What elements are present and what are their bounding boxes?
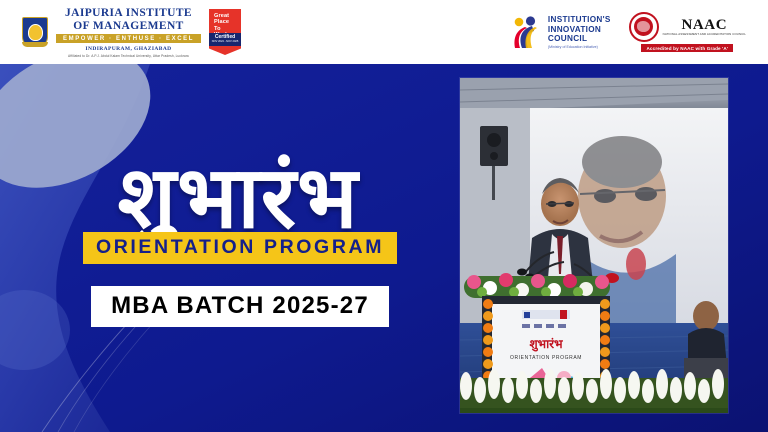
accreditation-logos: INSTITUTION'S INNOVATION COUNCIL (Minist… (513, 12, 746, 52)
poster-title-block: शुभारंभ ORIENTATION PROGRAM MBA BATCH 20… (0, 152, 450, 327)
institute-name-line2: OF MANAGEMENT (73, 20, 184, 32)
iic-logo-icon (513, 15, 543, 49)
orientation-program-banner: ORIENTATION PROGRAM (83, 232, 397, 264)
event-photo: शुभारंभ ORIENTATION PROGRAM (460, 78, 728, 413)
page-title-hindi: शुभारंभ (0, 152, 450, 244)
institute-affiliation: Affiliated to Dr. A.P.J. Abdul Kalam Tec… (68, 54, 189, 58)
svg-text:शुभारंभ: शुभारंभ (529, 337, 563, 352)
naac-row: NAAC NATIONAL ASSESSMENT AND ACCREDITATI… (629, 12, 746, 42)
flower-garland (464, 273, 610, 298)
institute-city: INDIRAPURAM, GHAZIABAD (85, 46, 171, 52)
institute-text-block: JAIPURIA INSTITUTE OF MANAGEMENT EMPOWER… (56, 7, 201, 58)
naac-accreditation-badge: Accredited by NAAC with Grade 'A' (641, 44, 733, 52)
gptw-certified: Certified NOV 2024 - NOV 2025 (209, 33, 241, 46)
iic-text-block: INSTITUTION'S INNOVATION COUNCIL (Minist… (548, 15, 611, 48)
batch-badge: MBA BATCH 2025-27 (91, 286, 389, 327)
poster-header: JAIPURIA INSTITUTE OF MANAGEMENT EMPOWER… (0, 0, 768, 64)
naac-seal-icon (629, 12, 659, 42)
iic-logo: INSTITUTION'S INNOVATION COUNCIL (Minist… (513, 15, 611, 49)
iic-line2: INNOVATION (548, 25, 611, 34)
institute-name-line1: JAIPURIA INSTITUTE (65, 7, 192, 19)
iic-line1: INSTITUTION'S (548, 15, 611, 24)
naac-fullform: NATIONAL ASSESSMENT AND ACCREDITATION CO… (663, 33, 746, 37)
institute-branding: JAIPURIA INSTITUTE OF MANAGEMENT EMPOWER… (22, 7, 241, 58)
institute-tagline: EMPOWER · ENTHUSE · EXCEL (56, 34, 201, 43)
event-photo-illustration: शुभारंभ ORIENTATION PROGRAM (460, 78, 728, 413)
svg-text:ORIENTATION PROGRAM: ORIENTATION PROGRAM (510, 355, 582, 361)
gptw-certified-period: NOV 2024 - NOV 2025 (209, 40, 241, 43)
great-place-to-work-badge-icon: Great Place To Work. Certified NOV 2024 … (209, 9, 241, 55)
jaipuria-crest-icon (22, 17, 48, 47)
naac-wordmark: NAAC (681, 18, 727, 33)
iic-subtitle: (Ministry of Education Initiative) (548, 45, 611, 49)
naac-logo: NAAC NATIONAL ASSESSMENT AND ACCREDITATI… (629, 12, 746, 52)
iic-line3: COUNCIL (548, 34, 611, 43)
